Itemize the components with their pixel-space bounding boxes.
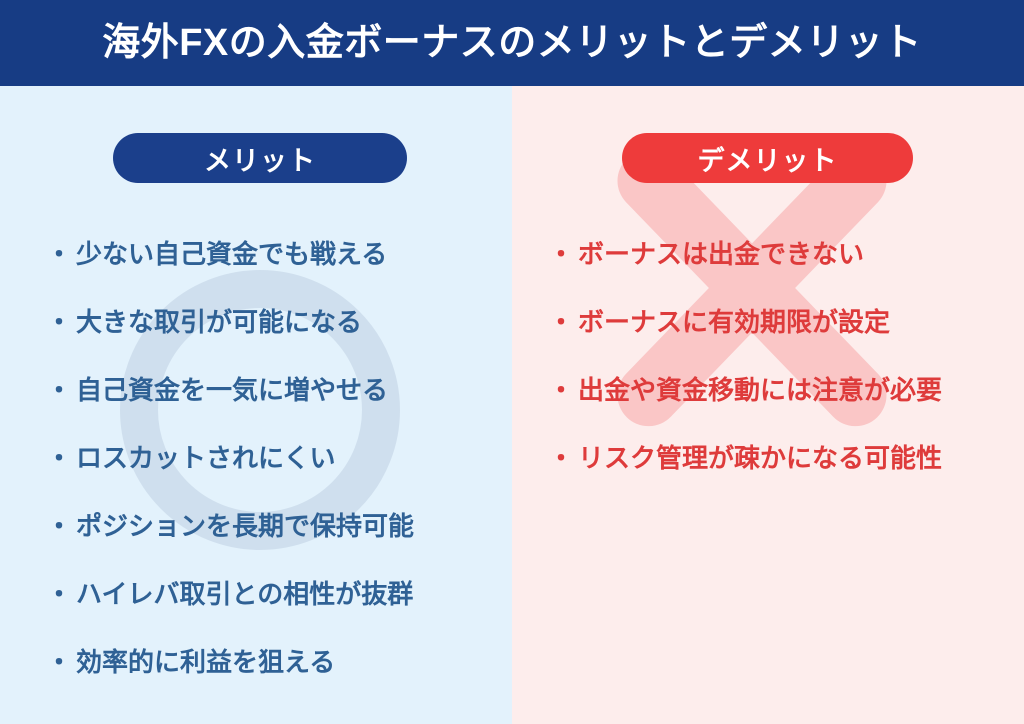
list-item-label: 自己資金を一気に増やせる (76, 377, 388, 403)
list-item: ・ ポジションを長期で保持可能 (46, 513, 414, 539)
list-item-label: ロスカットされにくい (76, 445, 335, 471)
bullet-icon: ・ (46, 445, 72, 471)
list-item-label: 少ない自己資金でも戦える (76, 241, 387, 267)
bullet-icon: ・ (46, 241, 72, 267)
list-item: ・ ボーナスに有効期限が設定 (548, 309, 890, 335)
infographic-root: 海外FXの入金ボーナスのメリットとデメリット メリット ・ 少ない自己資金でも戦… (0, 0, 1024, 724)
list-item-label: ボーナスに有効期限が設定 (578, 309, 890, 335)
list-item: ・ 大きな取引が可能になる (46, 309, 362, 335)
list-item: ・ リスク管理が疎かになる可能性 (548, 445, 942, 471)
list-item-label: ポジションを長期で保持可能 (76, 513, 414, 539)
header-bar: 海外FXの入金ボーナスのメリットとデメリット (0, 0, 1024, 86)
bullet-icon: ・ (46, 581, 72, 607)
list-item-label: 効率的に利益を狙える (76, 649, 335, 675)
bullet-icon: ・ (548, 445, 574, 471)
list-item-label: 出金や資金移動には注意が必要 (578, 377, 942, 403)
demerit-badge-label: デメリット (698, 139, 838, 178)
merit-panel: メリット ・ 少ない自己資金でも戦える ・ 大きな取引が可能になる ・ 自己資金… (0, 86, 512, 724)
bullet-icon: ・ (548, 241, 574, 267)
list-item: ・ 自己資金を一気に増やせる (46, 377, 388, 403)
bullet-icon: ・ (46, 513, 72, 539)
list-item-label: 大きな取引が可能になる (76, 309, 362, 335)
list-item-label: ボーナスは出金できない (578, 241, 864, 267)
bullet-icon: ・ (548, 377, 574, 403)
demerit-panel: デメリット ・ ボーナスは出金できない ・ ボーナスに有効期限が設定 ・ 出金や… (512, 86, 1024, 724)
list-item-label: ハイレバ取引との相性が抜群 (76, 581, 413, 607)
merit-badge: メリット (113, 133, 407, 183)
list-item: ・ 少ない自己資金でも戦える (46, 241, 387, 267)
list-item: ・ ボーナスは出金できない (548, 241, 864, 267)
bullet-icon: ・ (46, 649, 72, 675)
merit-badge-label: メリット (204, 139, 316, 178)
list-item: ・ ロスカットされにくい (46, 445, 336, 471)
page-title: 海外FXの入金ボーナスのメリットとデメリット (102, 24, 922, 62)
bullet-icon: ・ (46, 377, 72, 403)
list-item-label: リスク管理が疎かになる可能性 (578, 445, 942, 471)
demerit-badge: デメリット (622, 133, 913, 183)
bullet-icon: ・ (548, 309, 574, 335)
list-item: ・ ハイレバ取引との相性が抜群 (46, 581, 413, 607)
bullet-icon: ・ (46, 309, 72, 335)
list-item: ・ 効率的に利益を狙える (46, 649, 335, 675)
list-item: ・ 出金や資金移動には注意が必要 (548, 377, 942, 403)
